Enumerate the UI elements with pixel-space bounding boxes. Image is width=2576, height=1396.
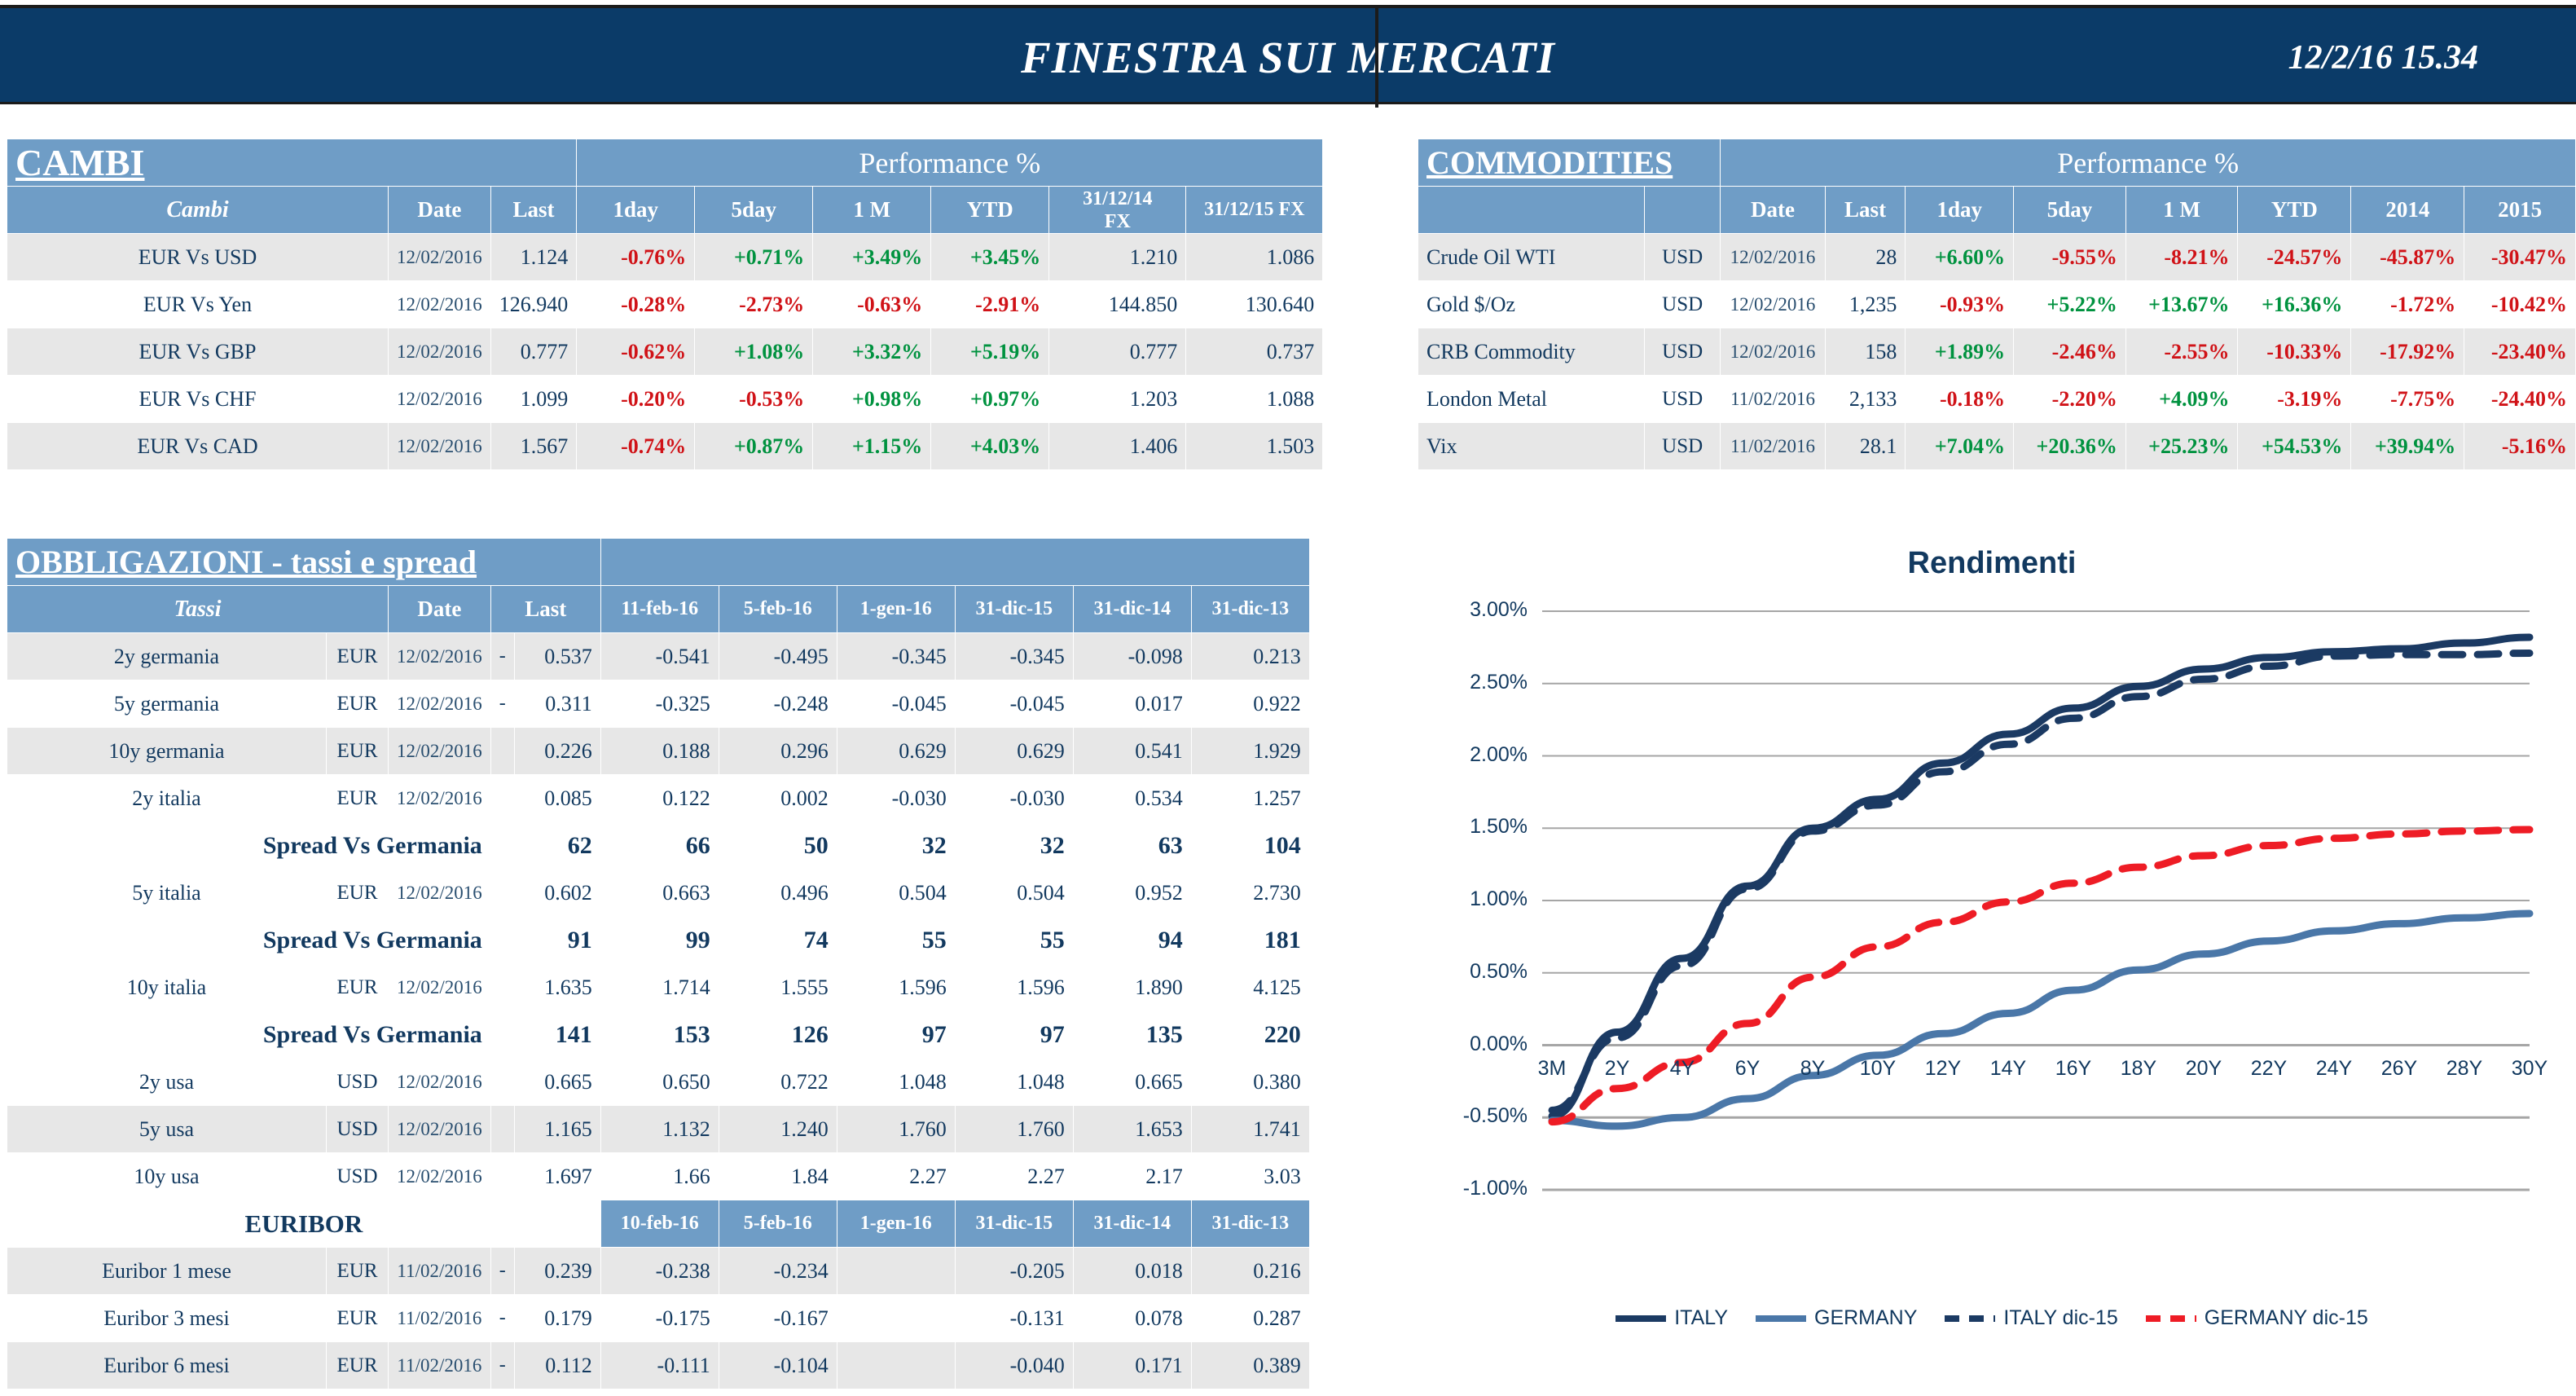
- cambi-row-fx14: 1.210: [1049, 234, 1186, 281]
- obbligazioni-row-c6: 1.929: [1191, 728, 1309, 775]
- cambi-col-5day: 5day: [695, 187, 813, 234]
- cambi-row-last: 126.940: [490, 281, 577, 328]
- chart-ytick-label: 0.00%: [1422, 1033, 1528, 1056]
- commodities-row-ytd: +54.53%: [2238, 423, 2351, 470]
- chart-ytick-label: 2.00%: [1422, 743, 1528, 767]
- table-row: EUR Vs GBP12/02/20160.777-0.62%+1.08%+3.…: [7, 328, 1323, 376]
- commodities-row-last: 158: [1825, 328, 1906, 376]
- obbligazioni-row-ccy: EUR: [327, 633, 389, 680]
- obbligazioni-row-ccy: USD: [327, 1059, 389, 1106]
- obbligazioni-row-c2: 0.296: [719, 728, 837, 775]
- obbligazioni-row-c3: 2.27: [837, 1153, 955, 1200]
- chart-xtick-label: 6Y: [1719, 1057, 1776, 1081]
- table-row: EUR Vs Yen12/02/2016126.940-0.28%-2.73%-…: [7, 281, 1323, 328]
- legend-label: ITALY: [1674, 1306, 1728, 1330]
- obbligazioni-row-c6: 3.03: [1191, 1153, 1309, 1200]
- commodities-row-m1: +4.09%: [2125, 376, 2238, 423]
- cambi-table: CAMBI Performance % Cambi Date Last 1day…: [7, 139, 1323, 470]
- euribor-row-last: 0.239: [514, 1248, 600, 1295]
- chart-xtick-label: 20Y: [2175, 1057, 2232, 1081]
- obbligazioni-row-c5: 0.665: [1073, 1059, 1191, 1106]
- obbligazioni-row-c2: 0.002: [719, 775, 837, 822]
- euribor-row-c3: [837, 1248, 955, 1295]
- euribor-row-last: 0.006: [514, 1389, 600, 1396]
- chart-xtick-label: 8Y: [1784, 1057, 1841, 1081]
- spread-row: Spread Vs Germania919974555594181: [7, 917, 1310, 964]
- chart-ytick-label: 1.00%: [1422, 887, 1528, 911]
- commodities-row-m1: +25.23%: [2125, 423, 2238, 470]
- obbligazioni-row-ccy: EUR: [327, 964, 389, 1011]
- spread-c4: 97: [955, 1011, 1073, 1059]
- commodities-row-m1: -2.55%: [2125, 328, 2238, 376]
- cambi-row-name: EUR Vs GBP: [7, 328, 389, 376]
- cambi-row-m1: +1.15%: [813, 423, 931, 470]
- cambi-row-fx15: 0.737: [1186, 328, 1323, 376]
- commodities-row-name: Vix: [1418, 423, 1645, 470]
- obbligazioni-row-c6: 1.741: [1191, 1106, 1309, 1153]
- cambi-row-d1: -0.76%: [577, 234, 695, 281]
- chart-xtick-label: 2Y: [1589, 1057, 1646, 1081]
- chart-legend: ITALYGERMANYITALY dic-15GERMANY dic-15: [1422, 1306, 2562, 1330]
- chart-ytick-label: 3.00%: [1422, 598, 1528, 622]
- euribor-row-ccy: EUR: [327, 1248, 389, 1295]
- cambi-title: CAMBI: [7, 139, 577, 187]
- cambi-row-m1: +3.49%: [813, 234, 931, 281]
- spread-c3: 55: [837, 917, 955, 964]
- legend-item[interactable]: GERMANY: [1756, 1306, 1917, 1330]
- cambi-row-d5: -0.53%: [695, 376, 813, 423]
- chart-svg: [1422, 587, 2562, 1239]
- cambi-row-date: 12/02/2016: [389, 376, 491, 423]
- commodities-row-y2015: -10.42%: [2464, 281, 2576, 328]
- commodities-row-ytd: +16.36%: [2238, 281, 2351, 328]
- obbligazioni-title: OBBLIGAZIONI - tassi e spread: [7, 539, 601, 586]
- commodities-title-row: COMMODITIES Performance %: [1418, 139, 2576, 187]
- commodities-row-ytd: -10.33%: [2238, 328, 2351, 376]
- cambi-row-ytd: +5.19%: [931, 328, 1049, 376]
- commodities-row-name: London Metal: [1418, 376, 1645, 423]
- commodities-row-name: Gold $/Oz: [1418, 281, 1645, 328]
- chart-xtick-label: 26Y: [2371, 1057, 2428, 1081]
- cambi-row-name: EUR Vs CHF: [7, 376, 389, 423]
- obbligazioni-row-sign: [490, 728, 514, 775]
- table-row: 2y italiaEUR12/02/20160.0850.1220.002-0.…: [7, 775, 1310, 822]
- obbligazioni-row-c1: -0.541: [600, 633, 719, 680]
- legend-label: ITALY dic-15: [2003, 1306, 2117, 1330]
- euribor-col-5: 31-dic-13: [1191, 1200, 1309, 1248]
- spread-label: Spread Vs Germania: [7, 822, 491, 870]
- table-row: Crude Oil WTIUSD12/02/201628+6.60%-9.55%…: [1418, 234, 2576, 281]
- spread-c2: 50: [719, 822, 837, 870]
- euribor-row-c1: -0.001: [600, 1389, 719, 1396]
- table-row: 5y italiaEUR12/02/20160.6020.6630.4960.5…: [7, 870, 1310, 917]
- obbligazioni-row-c5: 1.890: [1073, 964, 1191, 1011]
- legend-swatch-icon: [2146, 1315, 2196, 1322]
- spread-label: Spread Vs Germania: [7, 917, 491, 964]
- euribor-row-c4: -0.131: [955, 1295, 1073, 1342]
- legend-item[interactable]: ITALY: [1615, 1306, 1728, 1330]
- commodities-row-last: 2,133: [1825, 376, 1906, 423]
- obbligazioni-row-c3: -0.345: [837, 633, 955, 680]
- commodities-col-last: Last: [1825, 187, 1906, 234]
- obbligazioni-panel: OBBLIGAZIONI - tassi e spread Tassi Date…: [7, 538, 1310, 1396]
- obbligazioni-row-sign: -: [490, 680, 514, 728]
- chart-xtick-label: 12Y: [1914, 1057, 1972, 1081]
- commodities-row-ccy: USD: [1644, 423, 1720, 470]
- obbligazioni-row-ccy: EUR: [327, 728, 389, 775]
- cambi-row-ytd: -2.91%: [931, 281, 1049, 328]
- commodities-row-d1: +7.04%: [1906, 423, 2014, 470]
- euribor-row-date: 11/02/2016: [389, 1342, 491, 1389]
- obbligazioni-row-last: 1.165: [514, 1106, 600, 1153]
- cambi-row-fx14: 1.203: [1049, 376, 1186, 423]
- legend-swatch-icon: [1756, 1315, 1806, 1322]
- table-row: CRB CommodityUSD12/02/2016158+1.89%-2.46…: [1418, 328, 2576, 376]
- commodities-row-ytd: -24.57%: [2238, 234, 2351, 281]
- cambi-row-fx15: 1.086: [1186, 234, 1323, 281]
- obbligazioni-row-c5: 1.653: [1073, 1106, 1191, 1153]
- cambi-row-ytd: +0.97%: [931, 376, 1049, 423]
- commodities-row-ccy: USD: [1644, 376, 1720, 423]
- cambi-row-d1: -0.62%: [577, 328, 695, 376]
- spread-c1: 99: [600, 917, 719, 964]
- obbligazioni-row-date: 12/02/2016: [389, 1106, 491, 1153]
- obbligazioni-header-row: Tassi Date Last 11-feb-16 5-feb-16 1-gen…: [7, 586, 1310, 633]
- cambi-row-date: 12/02/2016: [389, 281, 491, 328]
- cambi-row-fx14: 0.777: [1049, 328, 1186, 376]
- legend-label: GERMANY: [1814, 1306, 1917, 1330]
- cambi-col-fx15: 31/12/15 FX: [1186, 187, 1323, 234]
- euribor-row-sign: -: [490, 1295, 514, 1342]
- obbligazioni-row-c4: 1.048: [955, 1059, 1073, 1106]
- obbligazioni-row-sign: [490, 964, 514, 1011]
- euribor-row-c5: 0.018: [1073, 1248, 1191, 1295]
- chart-ytick-label: -0.50%: [1422, 1104, 1528, 1128]
- commodities-row-date: 11/02/2016: [1721, 423, 1825, 470]
- spread-c2: 126: [719, 1011, 837, 1059]
- obbligazioni-col-c1: 11-feb-16: [600, 586, 719, 633]
- obbligazioni-col-c4: 31-dic-15: [955, 586, 1073, 633]
- cambi-row-fx14: 144.850: [1049, 281, 1186, 328]
- cambi-row-name: EUR Vs CAD: [7, 423, 389, 470]
- commodities-row-y2014: -45.87%: [2351, 234, 2464, 281]
- commodities-col-ytd: YTD: [2238, 187, 2351, 234]
- commodities-row-d5: -2.20%: [2014, 376, 2126, 423]
- cambi-col-date: Date: [389, 187, 491, 234]
- obbligazioni-row-c4: 0.504: [955, 870, 1073, 917]
- chart-xtick-label: 3M: [1523, 1057, 1580, 1081]
- cambi-row-ytd: +3.45%: [931, 234, 1049, 281]
- table-row: Gold $/OzUSD12/02/20161,235-0.93%+5.22%+…: [1418, 281, 2576, 328]
- commodities-row-date: 11/02/2016: [1721, 376, 1825, 423]
- table-row: 10y italiaEUR12/02/20161.6351.7141.5551.…: [7, 964, 1310, 1011]
- commodities-col-2015: 2015: [2464, 187, 2576, 234]
- page-title: FINESTRA SUI MERCATI: [0, 8, 2576, 108]
- obbligazioni-row-c2: -0.248: [719, 680, 837, 728]
- euribor-row-name: Euribor 12 mesi: [7, 1389, 327, 1396]
- obbligazioni-row-c5: -0.098: [1073, 633, 1191, 680]
- cambi-row-fx15: 1.503: [1186, 423, 1323, 470]
- obbligazioni-row-sign: -: [490, 633, 514, 680]
- obbligazioni-row-name: 5y germania: [7, 680, 327, 728]
- chart-xtick-label: 28Y: [2436, 1057, 2493, 1081]
- cambi-row-d5: +1.08%: [695, 328, 813, 376]
- obbligazioni-row-name: 10y italia: [7, 964, 327, 1011]
- chart-xtick-label: 22Y: [2240, 1057, 2297, 1081]
- euribor-row-sign: -: [490, 1342, 514, 1389]
- obbligazioni-row-date: 12/02/2016: [389, 1059, 491, 1106]
- euribor-row-c2: -0.167: [719, 1295, 837, 1342]
- obbligazioni-col-name: Tassi: [7, 586, 389, 633]
- cambi-performance-label: Performance %: [577, 139, 1323, 187]
- spread-c2: 74: [719, 917, 837, 964]
- chart-ytick-label: 1.50%: [1422, 815, 1528, 839]
- obbligazioni-row-c3: 1.596: [837, 964, 955, 1011]
- spread-last: 141: [490, 1011, 600, 1059]
- table-row: EUR Vs USD12/02/20161.124-0.76%+0.71%+3.…: [7, 234, 1323, 281]
- obbligazioni-row-c1: 1.714: [600, 964, 719, 1011]
- table-row: Euribor 1 meseEUR11/02/2016-0.239-0.238-…: [7, 1248, 1310, 1295]
- obbligazioni-row-name: 5y usa: [7, 1106, 327, 1153]
- commodities-row-last: 1,235: [1825, 281, 1906, 328]
- commodities-col-2014: 2014: [2351, 187, 2464, 234]
- cambi-title-row: CAMBI Performance %: [7, 139, 1323, 187]
- euribor-row-ccy: EUR: [327, 1389, 389, 1396]
- spread-row: Spread Vs Germania1411531269797135220: [7, 1011, 1310, 1059]
- table-row: 5y usaUSD12/02/20161.1651.1321.2401.7601…: [7, 1106, 1310, 1153]
- commodities-row-y2015: -23.40%: [2464, 328, 2576, 376]
- table-row: London MetalUSD11/02/20162,133-0.18%-2.2…: [1418, 376, 2576, 423]
- commodities-body: Crude Oil WTIUSD12/02/201628+6.60%-9.55%…: [1418, 234, 2576, 470]
- cambi-row-last: 1.567: [490, 423, 577, 470]
- cambi-row-date: 12/02/2016: [389, 234, 491, 281]
- chart-ytick-label: 0.50%: [1422, 960, 1528, 984]
- obbligazioni-row-c4: 0.629: [955, 728, 1073, 775]
- commodities-col-5day: 5day: [2014, 187, 2126, 234]
- obbligazioni-row-c4: -0.345: [955, 633, 1073, 680]
- cambi-col-name: Cambi: [7, 187, 389, 234]
- euribor-row-c2: -0.104: [719, 1342, 837, 1389]
- euribor-row-last: 0.179: [514, 1295, 600, 1342]
- obbligazioni-row-ccy: USD: [327, 1106, 389, 1153]
- cambi-panel: CAMBI Performance % Cambi Date Last 1day…: [7, 139, 1323, 470]
- obbligazioni-row-c2: 1.555: [719, 964, 837, 1011]
- obbligazioni-row-last: 0.226: [514, 728, 600, 775]
- commodities-panel: COMMODITIES Performance % Date Last 1day…: [1418, 139, 2576, 470]
- obbligazioni-row-c3: 1.760: [837, 1106, 955, 1153]
- euribor-row-last: 0.112: [514, 1342, 600, 1389]
- obbligazioni-row-last: 0.311: [514, 680, 600, 728]
- obbligazioni-row-date: 12/02/2016: [389, 870, 491, 917]
- commodities-row-m1: +13.67%: [2125, 281, 2238, 328]
- cambi-row-d1: -0.74%: [577, 423, 695, 470]
- cambi-row-d5: +0.71%: [695, 234, 813, 281]
- obbligazioni-row-c1: 0.188: [600, 728, 719, 775]
- spread-c6: 220: [1191, 1011, 1309, 1059]
- cambi-col-last: Last: [490, 187, 577, 234]
- obbligazioni-row-name: 10y germania: [7, 728, 327, 775]
- spread-c3: 97: [837, 1011, 955, 1059]
- euribor-row-c1: -0.175: [600, 1295, 719, 1342]
- commodities-row-y2014: -17.92%: [2351, 328, 2464, 376]
- cambi-row-fx15: 1.088: [1186, 376, 1323, 423]
- obbligazioni-row-c6: 0.922: [1191, 680, 1309, 728]
- obbligazioni-row-date: 12/02/2016: [389, 728, 491, 775]
- obbligazioni-row-sign: [490, 1059, 514, 1106]
- euribor-row-ccy: EUR: [327, 1295, 389, 1342]
- obbligazioni-row-c1: 1.66: [600, 1153, 719, 1200]
- euribor-title: EURIBOR: [7, 1200, 601, 1248]
- obbligazioni-row-c5: 0.541: [1073, 728, 1191, 775]
- commodities-row-y2014: -7.75%: [2351, 376, 2464, 423]
- obbligazioni-row-c1: 0.122: [600, 775, 719, 822]
- obbligazioni-row-last: 0.085: [514, 775, 600, 822]
- obbligazioni-row-c6: 0.213: [1191, 633, 1309, 680]
- obbligazioni-row-name: 5y italia: [7, 870, 327, 917]
- obbligazioni-row-date: 12/02/2016: [389, 964, 491, 1011]
- spread-c4: 32: [955, 822, 1073, 870]
- commodities-col-1day: 1day: [1906, 187, 2014, 234]
- obbligazioni-row-c4: 1.760: [955, 1106, 1073, 1153]
- table-row: Euribor 6 mesiEUR11/02/2016-0.112-0.111-…: [7, 1342, 1310, 1389]
- cambi-row-m1: -0.63%: [813, 281, 931, 328]
- commodities-row-last: 28: [1825, 234, 1906, 281]
- euribor-col-4: 31-dic-14: [1073, 1200, 1191, 1248]
- cambi-row-last: 1.124: [490, 234, 577, 281]
- cambi-row-last: 1.099: [490, 376, 577, 423]
- commodities-col-name: [1418, 187, 1645, 234]
- obbligazioni-row-c4: -0.030: [955, 775, 1073, 822]
- obbligazioni-row-c6: 4.125: [1191, 964, 1309, 1011]
- euribor-col-2: 1-gen-16: [837, 1200, 955, 1248]
- spread-c3: 32: [837, 822, 955, 870]
- euribor-row-date: 11/02/2016: [389, 1295, 491, 1342]
- spread-c6: 104: [1191, 822, 1309, 870]
- euribor-row-c6: 0.216: [1191, 1248, 1309, 1295]
- commodities-row-d1: -0.93%: [1906, 281, 2014, 328]
- table-row: VixUSD11/02/201628.1+7.04%+20.36%+25.23%…: [1418, 423, 2576, 470]
- legend-item[interactable]: GERMANY dic-15: [2146, 1306, 2368, 1330]
- euribor-row-c3: [837, 1389, 955, 1396]
- table-row: EUR Vs CHF12/02/20161.099-0.20%-0.53%+0.…: [7, 376, 1323, 423]
- obbligazioni-row-c6: 2.730: [1191, 870, 1309, 917]
- obbligazioni-row-last: 0.602: [514, 870, 600, 917]
- euribor-row-c6: 0.389: [1191, 1342, 1309, 1389]
- legend-label: GERMANY dic-15: [2205, 1306, 2368, 1330]
- obbligazioni-row-date: 12/02/2016: [389, 1153, 491, 1200]
- spread-c4: 55: [955, 917, 1073, 964]
- cambi-row-d5: -2.73%: [695, 281, 813, 328]
- euribor-row-c4: -0.205: [955, 1248, 1073, 1295]
- chart-xtick-label: 16Y: [2045, 1057, 2102, 1081]
- commodities-row-ccy: USD: [1644, 281, 1720, 328]
- table-row: 5y germaniaEUR12/02/2016-0.311-0.325-0.2…: [7, 680, 1310, 728]
- cambi-row-m1: +3.32%: [813, 328, 931, 376]
- legend-swatch-icon: [1945, 1315, 1995, 1322]
- cambi-header-row: Cambi Date Last 1day 5day 1 M YTD 31/12/…: [7, 187, 1323, 234]
- obbligazioni-col-c2: 5-feb-16: [719, 586, 837, 633]
- commodities-row-ccy: USD: [1644, 234, 1720, 281]
- commodities-row-date: 12/02/2016: [1721, 234, 1825, 281]
- chart-plot-area: 3.00%2.50%2.00%1.50%1.00%0.50%0.00%-0.50…: [1422, 587, 2562, 1239]
- obbligazioni-row-c4: 1.596: [955, 964, 1073, 1011]
- spread-c1: 153: [600, 1011, 719, 1059]
- commodities-row-d1: +6.60%: [1906, 234, 2014, 281]
- obbligazioni-row-ccy: EUR: [327, 680, 389, 728]
- table-row: 10y germaniaEUR12/02/20160.2260.1880.296…: [7, 728, 1310, 775]
- euribor-col-0: 10-feb-16: [600, 1200, 719, 1248]
- obbligazioni-row-name: 2y usa: [7, 1059, 327, 1106]
- commodities-row-y2014: -1.72%: [2351, 281, 2464, 328]
- chart-xtick-label: 24Y: [2306, 1057, 2363, 1081]
- euribor-row-c6: 0.556: [1191, 1389, 1309, 1396]
- cambi-row-ytd: +4.03%: [931, 423, 1049, 470]
- obbligazioni-row-sign: [490, 870, 514, 917]
- table-row: 10y usaUSD12/02/20161.6971.661.842.272.2…: [7, 1153, 1310, 1200]
- cambi-row-fx15: 130.640: [1186, 281, 1323, 328]
- obbligazioni-row-c3: 0.504: [837, 870, 955, 917]
- euribor-row-name: Euribor 1 mese: [7, 1248, 327, 1295]
- commodities-row-ccy: USD: [1644, 328, 1720, 376]
- commodities-row-name: Crude Oil WTI: [1418, 234, 1645, 281]
- legend-item[interactable]: ITALY dic-15: [1945, 1306, 2117, 1330]
- euribor-body: EURIBOR10-feb-165-feb-161-gen-1631-dic-1…: [7, 1200, 1310, 1396]
- euribor-header-row: EURIBOR10-feb-165-feb-161-gen-1631-dic-1…: [7, 1200, 1310, 1248]
- spread-c5: 63: [1073, 822, 1191, 870]
- obbligazioni-row-c5: 0.017: [1073, 680, 1191, 728]
- spread-c1: 66: [600, 822, 719, 870]
- euribor-row-c5: 0.171: [1073, 1342, 1191, 1389]
- commodities-row-y2015: -30.47%: [2464, 234, 2576, 281]
- commodities-row-y2014: +39.94%: [2351, 423, 2464, 470]
- cambi-row-d5: +0.87%: [695, 423, 813, 470]
- commodities-col-date: Date: [1721, 187, 1825, 234]
- cambi-row-d1: -0.28%: [577, 281, 695, 328]
- euribor-row-name: Euribor 3 mesi: [7, 1295, 327, 1342]
- obbligazioni-title-row: OBBLIGAZIONI - tassi e spread: [7, 539, 1310, 586]
- euribor-row-c5: 0.325: [1073, 1389, 1191, 1396]
- chart-xtick-label: 10Y: [1849, 1057, 1906, 1081]
- table-row: 2y usaUSD12/02/20160.6650.6500.7221.0481…: [7, 1059, 1310, 1106]
- cambi-row-date: 12/02/2016: [389, 328, 491, 376]
- commodities-row-y2015: -24.40%: [2464, 376, 2576, 423]
- obbligazioni-row-c2: 1.84: [719, 1153, 837, 1200]
- obbligazioni-row-last: 0.665: [514, 1059, 600, 1106]
- table-row: Euribor 12 mesiEUR11/02/2016-0.006-0.001…: [7, 1389, 1310, 1396]
- obbligazioni-row-last: 1.635: [514, 964, 600, 1011]
- obbligazioni-row-c3: 0.629: [837, 728, 955, 775]
- cambi-body: EUR Vs USD12/02/20161.124-0.76%+0.71%+3.…: [7, 234, 1323, 470]
- euribor-row-c3: [837, 1295, 955, 1342]
- chart-ytick-label: 2.50%: [1422, 671, 1528, 694]
- commodities-col-1m: 1 M: [2125, 187, 2238, 234]
- commodities-row-name: CRB Commodity: [1418, 328, 1645, 376]
- obbligazioni-row-date: 12/02/2016: [389, 633, 491, 680]
- euribor-row-c5: 0.078: [1073, 1295, 1191, 1342]
- euribor-row-c2: -0.234: [719, 1248, 837, 1295]
- chart-xtick-label: 14Y: [1980, 1057, 2037, 1081]
- commodities-row-d5: +5.22%: [2014, 281, 2126, 328]
- commodities-row-date: 12/02/2016: [1721, 328, 1825, 376]
- euribor-row-c3: [837, 1342, 955, 1389]
- cambi-row-m1: +0.98%: [813, 376, 931, 423]
- obbligazioni-col-c5: 31-dic-14: [1073, 586, 1191, 633]
- chart-ytick-label: -1.00%: [1422, 1177, 1528, 1200]
- euribor-row-date: 11/02/2016: [389, 1248, 491, 1295]
- obbligazioni-row-ccy: EUR: [327, 870, 389, 917]
- obbligazioni-row-last: 1.697: [514, 1153, 600, 1200]
- cambi-col-1day: 1day: [577, 187, 695, 234]
